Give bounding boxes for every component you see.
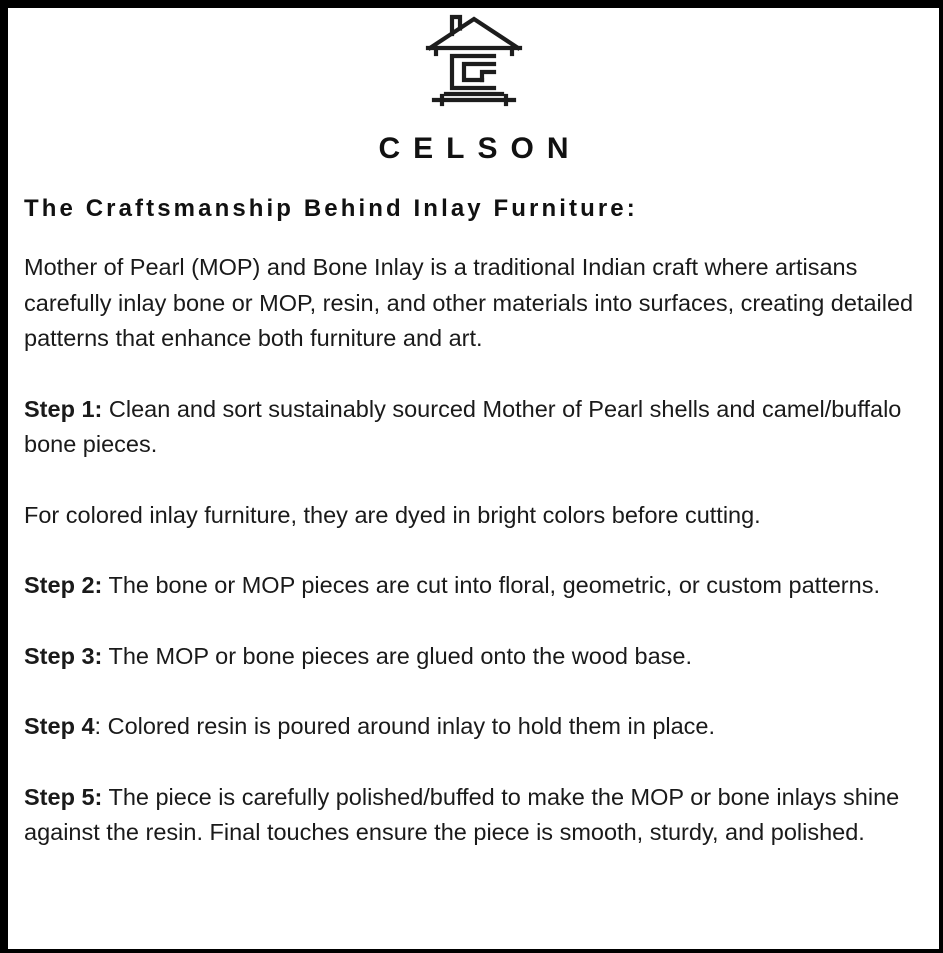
page-title: The Craftsmanship Behind Inlay Furniture… bbox=[24, 196, 931, 222]
poster-page: CELSON The Craftsmanship Behind Inlay Fu… bbox=[0, 0, 943, 953]
paragraph-step3-text: The MOP or bone pieces are glued onto th… bbox=[102, 643, 692, 669]
body-copy: Mother of Pearl (MOP) and Bone Inlay is … bbox=[24, 250, 914, 851]
poster-content: CELSON The Craftsmanship Behind Inlay Fu… bbox=[8, 8, 939, 949]
paragraph-intro-text: Mother of Pearl (MOP) and Bone Inlay is … bbox=[24, 254, 913, 351]
paragraph-dye-note: For colored inlay furniture, they are dy… bbox=[24, 498, 914, 534]
paragraph-dye-note-text: For colored inlay furniture, they are dy… bbox=[24, 502, 761, 528]
paragraph-step4-text: Colored resin is poured around inlay to … bbox=[101, 713, 715, 739]
house-with-monogram-icon bbox=[422, 12, 526, 112]
brand-logo-block: CELSON bbox=[16, 8, 931, 164]
paragraph-step2: Step 2: The bone or MOP pieces are cut i… bbox=[24, 568, 914, 604]
paragraph-step1-text: Clean and sort sustainably sourced Mothe… bbox=[24, 396, 901, 458]
paragraph-step5: Step 5: The piece is carefully polished/… bbox=[24, 780, 914, 851]
paragraph-intro: Mother of Pearl (MOP) and Bone Inlay is … bbox=[24, 250, 914, 357]
paragraph-step3-label: Step 3: bbox=[24, 643, 102, 669]
paragraph-step4-label: Step 4 bbox=[24, 713, 95, 739]
paragraph-step1: Step 1: Clean and sort sustainably sourc… bbox=[24, 392, 914, 463]
frame-border-bottom bbox=[0, 949, 943, 953]
brand-wordmark: CELSON bbox=[16, 134, 931, 164]
paragraph-step2-text: The bone or MOP pieces are cut into flor… bbox=[102, 572, 880, 598]
frame-border-left bbox=[0, 0, 8, 953]
paragraph-step1-label: Step 1: bbox=[24, 396, 102, 422]
frame-border-top bbox=[0, 0, 943, 8]
frame-border-right bbox=[939, 0, 943, 953]
paragraph-step5-text: The piece is carefully polished/buffed t… bbox=[24, 784, 899, 846]
paragraph-step3: Step 3: The MOP or bone pieces are glued… bbox=[24, 639, 914, 675]
paragraph-step5-label: Step 5: bbox=[24, 784, 102, 810]
paragraph-step2-label: Step 2: bbox=[24, 572, 102, 598]
paragraph-step4: Step 4: Colored resin is poured around i… bbox=[24, 709, 914, 745]
